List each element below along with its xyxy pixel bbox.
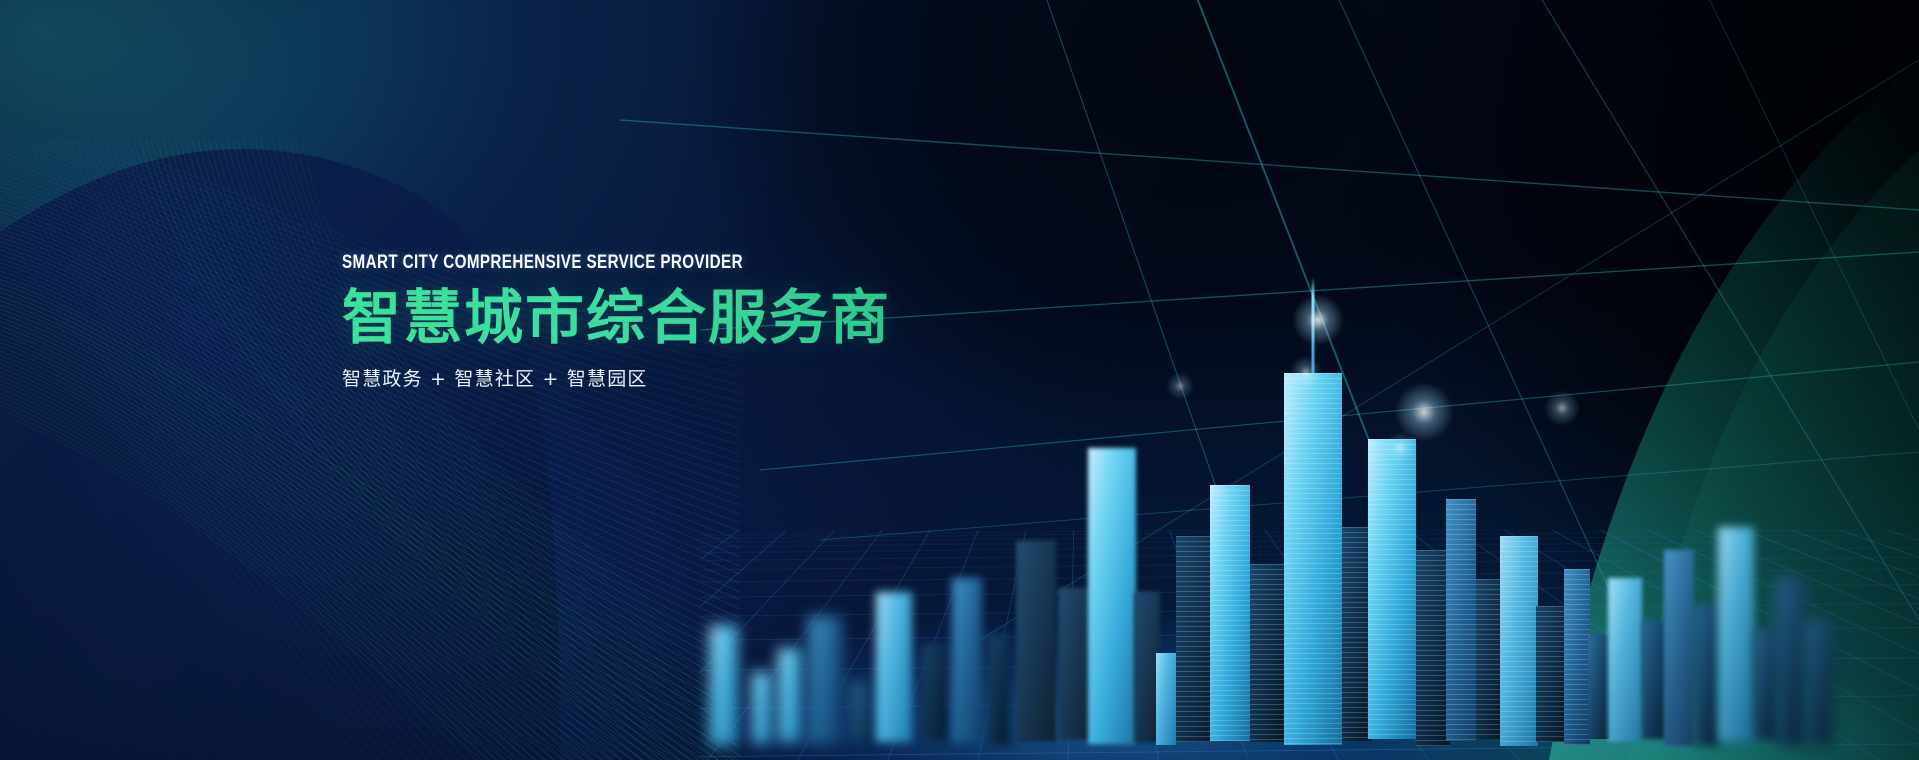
building-tower-v [1718, 527, 1754, 741]
window-texture [1058, 588, 1092, 740]
window-texture [1284, 373, 1342, 745]
building-fg-bar-9 [988, 634, 1010, 746]
building-tower-c [1088, 448, 1136, 744]
lens-flare [1394, 382, 1454, 442]
window-texture [1446, 499, 1476, 741]
lens-flare [1292, 294, 1344, 346]
building-fg-bar-4 [808, 616, 842, 744]
building-fg-bar-7 [922, 644, 948, 740]
window-texture [1088, 448, 1136, 744]
window-texture [1608, 578, 1642, 742]
tower-spire [1312, 277, 1315, 373]
building-fg-bar-6 [876, 592, 912, 742]
building-tower-h [1250, 564, 1284, 742]
window-texture [1016, 541, 1056, 741]
building-tower-g [1210, 485, 1250, 741]
building-tower-o [1536, 606, 1566, 742]
lens-flare [1544, 390, 1580, 426]
building-tower-b [1058, 588, 1092, 740]
window-texture [1416, 550, 1450, 746]
eyebrow-tagline: SMART CITY COMPREHENSIVE SERVICE PROVIDE… [342, 252, 950, 274]
building-fg-bar-8 [952, 578, 982, 742]
building-tower-main [1284, 373, 1342, 745]
building-tower-s [1642, 621, 1666, 739]
building-tower-t [1664, 550, 1694, 746]
building-tower-q [1588, 635, 1610, 739]
hero-banner: SMART CITY COMPREHENSIVE SERVICE PROVIDE… [0, 0, 1919, 760]
building-tower-n [1500, 536, 1538, 746]
building-tower-l [1446, 499, 1476, 741]
building-tower-k [1416, 550, 1450, 746]
building-tower-p [1564, 569, 1590, 745]
hero-copy-block: SMART CITY COMPREHENSIVE SERVICE PROVIDE… [342, 252, 1102, 391]
lens-flare [1166, 372, 1194, 400]
building-fg-bar-3 [778, 648, 802, 742]
page-title: 智慧城市综合服务商 [342, 286, 1102, 350]
window-texture [1476, 579, 1502, 739]
building-tower-u [1694, 606, 1720, 746]
window-texture [1210, 485, 1250, 741]
building-tower-y [1806, 620, 1832, 746]
subtitle-services: 智慧政务 + 智慧社区 + 智慧园区 [342, 364, 1102, 391]
building-tower-w [1754, 630, 1778, 740]
window-texture [1564, 569, 1590, 745]
window-texture [1500, 536, 1538, 746]
building-fg-bar-5 [850, 681, 872, 741]
window-texture [1250, 564, 1284, 742]
window-texture [1536, 606, 1566, 742]
building-tower-x [1776, 578, 1806, 746]
building-fg-bar-1 [710, 625, 738, 745]
building-tower-j [1368, 439, 1416, 739]
building-tower-a [1016, 541, 1056, 741]
window-texture [1368, 439, 1416, 739]
building-tower-e [1156, 653, 1176, 745]
window-texture [1664, 550, 1694, 746]
building-fg-bar-2 [752, 672, 772, 744]
building-tower-m [1476, 579, 1502, 739]
building-tower-r [1608, 578, 1642, 742]
